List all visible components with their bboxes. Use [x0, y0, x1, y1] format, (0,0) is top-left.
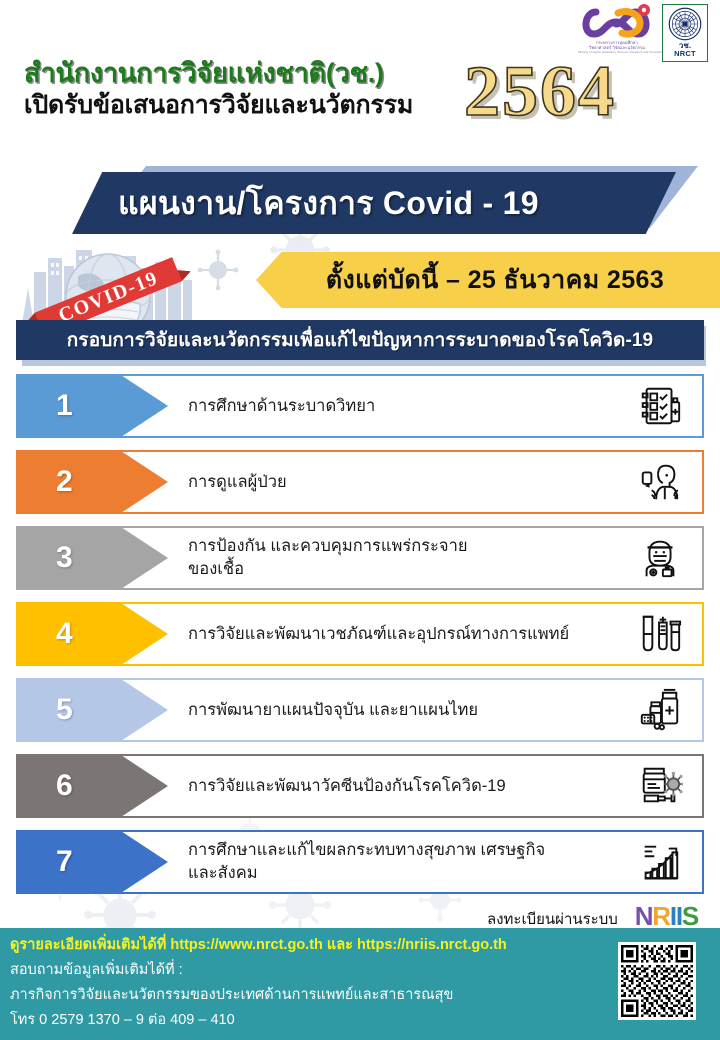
footer-bar: ดูรายละเอียดเพิ่มเติมได้ที่ https://www.… — [0, 928, 720, 1040]
qr-code-image — [621, 945, 693, 1017]
row-label: การวิจัยและพัฒนาวัคซีนป้องกันโรคโควิด-19 — [188, 775, 506, 798]
main-banner: แผนงาน/โครงการ Covid - 19 — [72, 172, 676, 234]
title-line-1: สำนักงานการวิจัยแห่งชาติ(วช.) — [24, 58, 413, 88]
medicine-bottles-pills-icon — [634, 684, 686, 736]
row-bar: การดูแลผู้ป่วย — [118, 450, 704, 514]
main-banner-text: แผนงาน/โครงการ Covid - 19 — [118, 178, 539, 229]
patient-thermometer-icon — [634, 456, 686, 508]
row-bar: การวิจัยและพัฒนาวัคซีนป้องกันโรคโควิด-19 — [118, 754, 704, 818]
row-label: การพัฒนายาแผนปัจจุบัน และยาแผนไทย — [188, 699, 478, 722]
row-label: การศึกษาและแก้ไขผลกระทบทางสุขภาพ เศรษฐกิ… — [188, 839, 545, 885]
vaccine-vial-virus-icon — [634, 760, 686, 812]
row-number: 4 — [56, 619, 73, 649]
virus-decor-icon — [198, 250, 239, 291]
row-bar: การป้องกัน และควบคุมการแพร่กระจาย ของเชื… — [118, 526, 704, 590]
row-number: 7 — [56, 847, 73, 877]
row-label: การดูแลผู้ป่วย — [188, 471, 287, 494]
nrct-seal-icon — [668, 7, 702, 41]
row-label: การป้องกัน และควบคุมการแพร่กระจาย ของเชื… — [188, 535, 468, 581]
row-bar: การพัฒนายาแผนปัจจุบัน และยาแผนไทย — [118, 678, 704, 742]
row-number: 2 — [56, 467, 73, 497]
nrct-label-en: NRCT — [674, 50, 696, 58]
test-tube-syringe-vial-icon — [634, 608, 686, 660]
row-bar: การวิจัยและพัฒนาเวชภัณฑ์และอุปกรณ์ทางการ… — [118, 602, 704, 666]
list-item[interactable]: การวิจัยและพัฒนาวัคซีนป้องกันโรคโควิด-19… — [0, 754, 720, 818]
date-banner-text: ตั้งแต่บัดนี้ – 25 ธันวาคม 2563 — [312, 260, 664, 300]
footer-line-3: ภารกิจการวิจัยและนวัตกรรมของประเทศด้านกา… — [10, 987, 453, 1004]
qr-code[interactable] — [618, 942, 696, 1020]
footer-line-1: ดูรายละเอียดเพิ่มเติมได้ที่ https://www.… — [10, 937, 507, 954]
list-item[interactable]: การวิจัยและพัฒนาเวชภัณฑ์และอุปกรณ์ทางการ… — [0, 602, 720, 666]
register-label: ลงทะเบียนผ่านระบบ — [487, 907, 618, 931]
footer-line-2: สอบถามข้อมูลเพิ่มเติมได้ที่ : — [10, 962, 183, 979]
list-item[interactable]: การป้องกัน และควบคุมการแพร่กระจาย ของเชื… — [0, 526, 720, 590]
row-number: 6 — [56, 771, 73, 801]
nrct-logo: วช. NRCT — [662, 4, 708, 62]
mhesi-glyph-icon — [578, 4, 656, 42]
row-label: การศึกษาด้านระบาดวิทยา — [188, 395, 375, 418]
row-number: 5 — [56, 695, 73, 725]
row-number: 1 — [56, 391, 73, 421]
clipboard-checklist-icon — [634, 380, 686, 432]
poster-root: กระทรวงการอุดมศึกษา วิทยาศาสตร์ วิจัยและ… — [0, 0, 720, 1040]
footer-line-4: โทร 0 2579 1370 – 9 ต่อ 409 – 410 — [10, 1012, 235, 1029]
year-number: 2564 — [464, 54, 616, 128]
date-banner: ตั้งแต่บัดนี้ – 25 ธันวาคม 2563 — [256, 252, 720, 308]
ppe-medic-icon — [634, 532, 686, 584]
research-topic-list: การศึกษาด้านระบาดวิทยา 1 การดูแ — [0, 374, 720, 906]
row-bar: การศึกษาและแก้ไขผลกระทบทางสุขภาพ เศรษฐกิ… — [118, 830, 704, 894]
list-item[interactable]: การศึกษาและแก้ไขผลกระทบทางสุขภาพ เศรษฐกิ… — [0, 830, 720, 894]
framework-bar: กรอบการวิจัยและนวัตกรรมเพื่อแก้ไขปัญหากา… — [16, 320, 704, 360]
growth-chart-icon — [634, 836, 686, 888]
list-item[interactable]: การพัฒนายาแผนปัจจุบัน และยาแผนไทย 5 — [0, 678, 720, 742]
framework-bar-text: กรอบการวิจัยและนวัตกรรมเพื่อแก้ไขปัญหากา… — [67, 325, 653, 355]
row-number: 3 — [56, 543, 73, 573]
nriis-wordmark: NRIIS — [635, 904, 698, 928]
list-item[interactable]: การศึกษาด้านระบาดวิทยา 1 — [0, 374, 720, 438]
row-label: การวิจัยและพัฒนาเวชภัณฑ์และอุปกรณ์ทางการ… — [188, 623, 569, 646]
mhesi-logo-mark — [578, 4, 656, 40]
row-bar: การศึกษาด้านระบาดวิทยา — [118, 374, 704, 438]
page-title: สำนักงานการวิจัยแห่งชาติ(วช.) เปิดรับข้อ… — [24, 58, 413, 120]
poster-header: กระทรวงการอุดมศึกษา วิทยาศาสตร์ วิจัยและ… — [0, 0, 720, 160]
list-item[interactable]: การดูแลผู้ป่วย 2 — [0, 450, 720, 514]
title-line-2: เปิดรับข้อเสนอการวิจัยและนวัตกรรม — [24, 90, 413, 120]
